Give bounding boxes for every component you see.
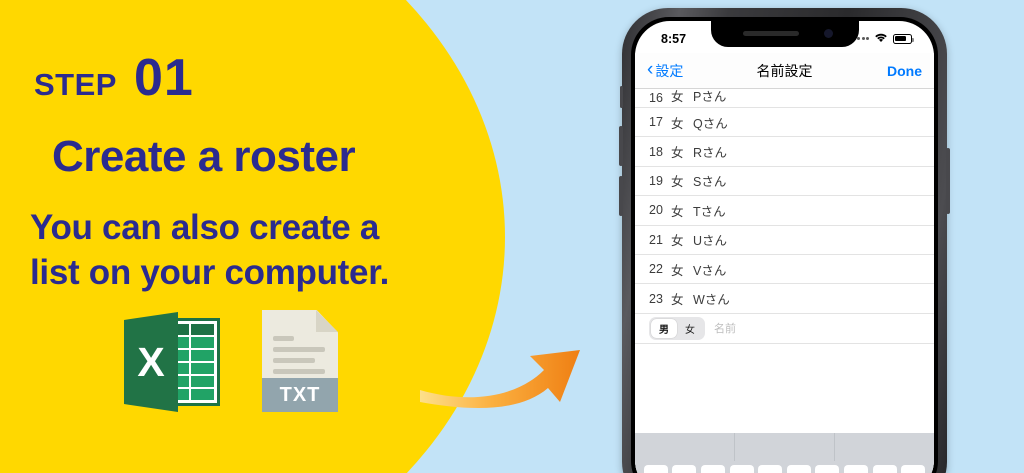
chevron-left-icon: ‹ (647, 60, 653, 79)
row-name: Tさん (693, 201, 726, 220)
list-empty-space (635, 344, 934, 393)
page-title: Create a roster (52, 134, 355, 180)
table-row[interactable]: 16 女 Pさん (635, 89, 934, 108)
gender-segmented-control[interactable]: 男 女 (649, 317, 705, 340)
phone-bezel: 8:57 (631, 17, 938, 473)
excel-letter: X (124, 312, 178, 412)
row-number: 17 (649, 115, 671, 129)
row-gender: 女 (671, 89, 693, 105)
onscreen-keyboard[interactable]: q w e r t y u i o p (635, 433, 934, 473)
smartphone-mockup: 8:57 (622, 8, 947, 473)
volume-down-button[interactable] (619, 176, 623, 216)
row-gender: 女 (671, 201, 693, 220)
table-row[interactable]: 21 女 Uさん (635, 226, 934, 255)
segment-male[interactable]: 男 (651, 319, 677, 338)
suggestion-slot-2[interactable] (734, 433, 834, 461)
promo-subtitle-line-1: You can also create a (30, 206, 500, 251)
promo-subtitle: You can also create a list on your compu… (30, 206, 500, 296)
step-number: 01 (134, 52, 194, 104)
key-q[interactable]: q (644, 465, 668, 473)
row-gender: 女 (671, 171, 693, 190)
suggestion-slot-1[interactable] (635, 433, 734, 461)
row-gender: 女 (671, 289, 693, 308)
keyboard-row-1: q w e r t y u i o p (635, 461, 934, 473)
row-gender: 女 (671, 113, 693, 132)
phone-screen: 8:57 (635, 21, 934, 473)
row-name: Uさん (693, 230, 727, 249)
table-row[interactable]: 20 女 Tさん (635, 196, 934, 225)
silent-switch[interactable] (620, 86, 623, 108)
front-camera-icon (824, 29, 833, 38)
row-number: 16 (649, 91, 671, 105)
key-o[interactable]: o (873, 465, 897, 473)
key-w[interactable]: w (672, 465, 696, 473)
segment-female[interactable]: 女 (677, 319, 703, 338)
table-row[interactable]: 19 女 Sさん (635, 167, 934, 196)
power-button[interactable] (946, 148, 950, 214)
table-row[interactable]: 23 女 Wさん (635, 284, 934, 313)
back-button-label: 設定 (655, 61, 683, 81)
row-number: 21 (649, 233, 671, 247)
suggestion-slot-3[interactable] (834, 433, 934, 461)
table-row[interactable]: 18 女 Rさん (635, 137, 934, 166)
table-row[interactable]: 22 女 Vさん (635, 255, 934, 284)
row-gender: 女 (671, 230, 693, 249)
table-row[interactable]: 17 女 Qさん (635, 108, 934, 137)
step-heading: STEP 01 (34, 52, 194, 104)
row-number: 23 (649, 292, 671, 306)
txt-label: TXT (280, 384, 321, 407)
back-button[interactable]: ‹ 設定 (647, 61, 683, 81)
txt-file-icon: TXT (262, 310, 338, 412)
predictive-suggestion-bar[interactable] (635, 433, 934, 461)
earpiece-speaker (743, 31, 799, 36)
status-time: 8:57 (661, 32, 686, 46)
row-number: 20 (649, 203, 671, 217)
roster-list[interactable]: 16 女 Pさん 17 女 Qさん 18 女 Rさん (635, 89, 934, 473)
promo-copy: STEP 01 Create a roster You can also cre… (0, 0, 520, 473)
curved-arrow-icon (420, 318, 595, 418)
notch (711, 21, 859, 47)
row-name: Vさん (693, 260, 726, 279)
row-number: 18 (649, 145, 671, 159)
key-u[interactable]: u (815, 465, 839, 473)
key-y[interactable]: y (787, 465, 811, 473)
row-name: Wさん (693, 289, 730, 308)
txt-label-band: TXT (262, 378, 338, 412)
key-r[interactable]: r (730, 465, 754, 473)
new-entry-row[interactable]: 男 女 名前 (635, 314, 934, 344)
row-gender: 女 (671, 142, 693, 161)
wifi-icon (874, 32, 888, 46)
row-number: 19 (649, 174, 671, 188)
row-name: Pさん (693, 89, 726, 105)
poster-canvas: STEP 01 Create a roster You can also cre… (0, 0, 1024, 473)
done-button[interactable]: Done (887, 63, 922, 79)
row-name: Qさん (693, 113, 728, 132)
row-gender: 女 (671, 260, 693, 279)
step-label: STEP (34, 69, 117, 100)
row-name: Sさん (693, 171, 726, 190)
promo-subtitle-line-2: list on your computer. (30, 251, 500, 296)
row-number: 22 (649, 262, 671, 276)
row-name: Rさん (693, 142, 727, 161)
excel-file-icon: X (124, 312, 220, 412)
key-p[interactable]: p (901, 465, 925, 473)
volume-up-button[interactable] (619, 126, 623, 166)
status-indicators (853, 32, 913, 46)
key-e[interactable]: e (701, 465, 725, 473)
key-i[interactable]: i (844, 465, 868, 473)
navigation-bar: ‹ 設定 名前設定 Done (635, 53, 934, 89)
battery-icon (893, 34, 912, 44)
txt-folded-corner (316, 310, 338, 332)
key-t[interactable]: t (758, 465, 782, 473)
name-input[interactable]: 名前 (714, 320, 736, 336)
